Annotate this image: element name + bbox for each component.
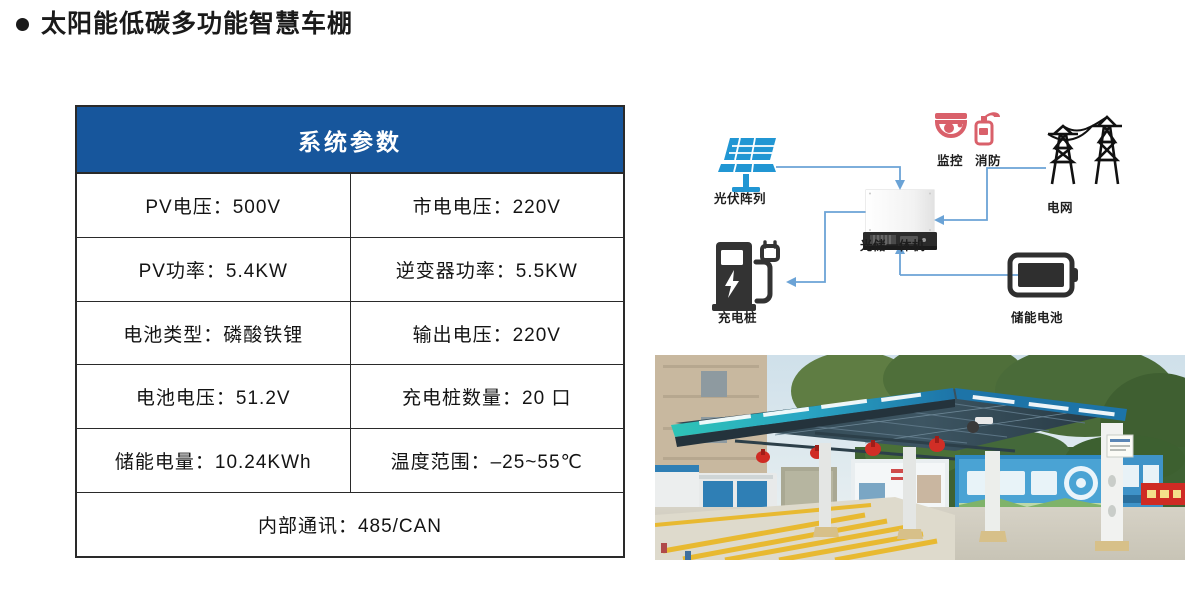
diagram-label-camera: 监控: [937, 150, 963, 169]
table-header-label: 系统参数: [298, 123, 402, 157]
connector-pv-to-inverter: [776, 167, 900, 185]
solar-panel-icon: [718, 138, 776, 192]
cctv-dome-camera-icon: [935, 113, 967, 136]
table-cell: 市电电压：220V: [351, 174, 624, 237]
slide-page: 太阳能低碳多功能智慧车棚 系统参数 PV电压：500V 市电电压：220V PV…: [0, 0, 1200, 605]
table-cell: 电池类型：磷酸铁锂: [77, 302, 351, 365]
table-row: PV功率：5.4KW 逆变器功率：5.5KW: [77, 238, 623, 302]
page-title-text: 太阳能低碳多功能智慧车棚: [41, 12, 353, 37]
table-cell: 内部通讯：485/CAN: [77, 493, 623, 556]
table-header: 系统参数: [77, 107, 623, 174]
photo-illustration: [655, 355, 1185, 560]
table-row: 内部通讯：485/CAN: [77, 493, 623, 556]
table-cell: PV功率：5.4KW: [77, 238, 351, 301]
diagram-label-fire: 消防: [975, 150, 1001, 169]
system-architecture-diagram: 光伏阵列 光储一体机 电网 充电桩 储能电池 监控 消防: [650, 100, 1200, 350]
system-parameters-table: 系统参数 PV电压：500V 市电电压：220V PV功率：5.4KW 逆变器功…: [75, 105, 625, 558]
connector-inverter-to-pile: [790, 212, 866, 282]
bullet-dot-icon: [16, 18, 29, 31]
table-row: 电池类型：磷酸铁锂 输出电压：220V: [77, 302, 623, 366]
table-row: PV电压：500V 市电电压：220V: [77, 174, 623, 238]
power-tower-icon: [1048, 117, 1122, 184]
solar-carport-photo: [655, 355, 1185, 560]
table-cell: PV电压：500V: [77, 174, 351, 237]
diagram-label-pile: 充电桩: [718, 307, 757, 326]
charging-pile-icon: [712, 242, 778, 311]
diagram-label-grid: 电网: [1047, 197, 1073, 216]
diagram-label-pv: 光伏阵列: [714, 188, 766, 207]
fire-extinguisher-icon: [976, 112, 1000, 144]
page-title: 太阳能低碳多功能智慧车棚: [16, 12, 353, 37]
table-cell: 储能电量：10.24KWh: [77, 429, 351, 492]
diagram-label-inverter: 光储一体机: [860, 235, 925, 254]
table-body: PV电压：500V 市电电压：220V PV功率：5.4KW 逆变器功率：5.5…: [77, 174, 623, 556]
table-cell: 逆变器功率：5.5KW: [351, 238, 624, 301]
table-cell: 充电桩数量：20 口: [351, 365, 624, 428]
battery-icon: [1010, 255, 1078, 295]
table-cell: 电池电压：51.2V: [77, 365, 351, 428]
table-cell: 温度范围：–25~55℃: [351, 429, 624, 492]
table-row: 电池电压：51.2V 充电桩数量：20 口: [77, 365, 623, 429]
table-cell: 输出电压：220V: [351, 302, 624, 365]
diagram-label-battery: 储能电池: [1011, 307, 1063, 326]
connector-grid-to-inverter: [938, 168, 1046, 220]
table-row: 储能电量：10.24KWh 温度范围：–25~55℃: [77, 429, 623, 493]
